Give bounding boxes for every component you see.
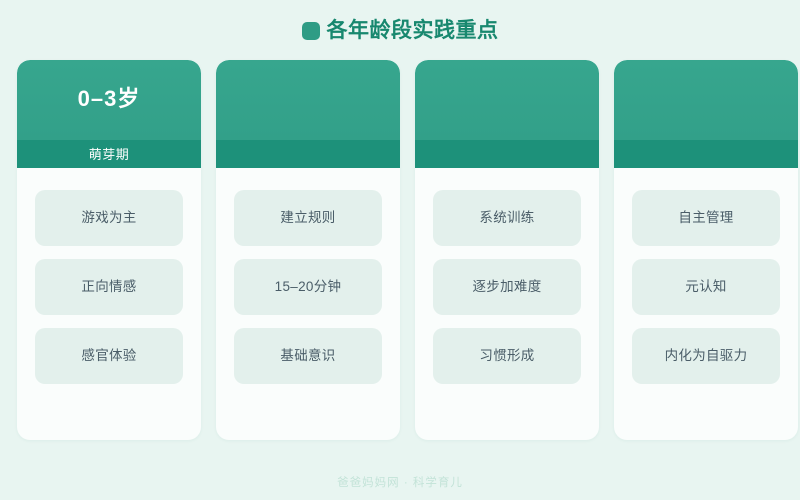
footer-credit-text: 爸爸妈妈网 · 科学育儿 — [337, 478, 463, 490]
practice-chip-label: 感官体验 — [81, 348, 136, 364]
practice-chip-label: 游戏为主 — [81, 210, 136, 226]
practice-chip[interactable]: 基础意识 — [234, 328, 382, 384]
practice-chip-label: 内化为自驱力 — [665, 348, 748, 364]
card-header — [415, 60, 599, 140]
page-title: 各年龄段实践重点 — [327, 20, 499, 41]
age-stage-card[interactable]: 建立规则 15–20分钟 基础意识 — [216, 60, 400, 440]
card-subheader — [614, 140, 798, 168]
card-body: 建立规则 15–20分钟 基础意识 — [216, 168, 400, 440]
practice-chip[interactable]: 系统训练 — [433, 190, 581, 246]
age-stage-card[interactable]: 0–3岁 萌芽期 游戏为主 正向情感 感官体验 — [17, 60, 201, 440]
card-subheader: 萌芽期 — [17, 140, 201, 168]
practice-chip[interactable]: 自主管理 — [632, 190, 780, 246]
card-body: 自主管理 元认知 内化为自驱力 — [614, 168, 798, 440]
practice-chip[interactable]: 15–20分钟 — [234, 259, 382, 315]
practice-chip[interactable]: 感官体验 — [35, 328, 183, 384]
card-body: 游戏为主 正向情感 感官体验 — [17, 168, 201, 440]
practice-chip-label: 15–20分钟 — [275, 279, 342, 295]
practice-chip[interactable]: 内化为自驱力 — [632, 328, 780, 384]
card-subheader — [415, 140, 599, 168]
practice-chip-label: 习惯形成 — [479, 348, 534, 364]
practice-chip-label: 基础意识 — [280, 348, 335, 364]
age-stage-card[interactable]: 系统训练 逐步加难度 习惯形成 — [415, 60, 599, 440]
card-header — [216, 60, 400, 140]
practice-chip-label: 建立规则 — [280, 210, 335, 226]
practice-chip-label: 逐步加难度 — [473, 279, 542, 295]
rounded-square-icon — [302, 22, 320, 40]
practice-chip[interactable]: 游戏为主 — [35, 190, 183, 246]
practice-chip[interactable]: 建立规则 — [234, 190, 382, 246]
card-body: 系统训练 逐步加难度 习惯形成 — [415, 168, 599, 440]
practice-chip-label: 自主管理 — [678, 210, 733, 226]
age-stage-card-row: 0–3岁 萌芽期 游戏为主 正向情感 感官体验 建立规则 — [17, 60, 797, 440]
card-subheader — [216, 140, 400, 168]
card-age-label: 0–3岁 — [78, 88, 141, 110]
practice-chip[interactable]: 逐步加难度 — [433, 259, 581, 315]
age-stage-card[interactable]: 自主管理 元认知 内化为自驱力 — [614, 60, 798, 440]
page-title-bar: 各年龄段实践重点 — [0, 0, 800, 60]
practice-chip[interactable]: 元认知 — [632, 259, 780, 315]
card-header — [614, 60, 798, 140]
practice-chip-label: 元认知 — [685, 279, 726, 295]
card-stage-label: 萌芽期 — [89, 148, 130, 161]
card-header: 0–3岁 — [17, 60, 201, 140]
practice-chip[interactable]: 正向情感 — [35, 259, 183, 315]
practice-chip-label: 正向情感 — [81, 279, 136, 295]
practice-chip-label: 系统训练 — [479, 210, 534, 226]
practice-chip[interactable]: 习惯形成 — [433, 328, 581, 384]
page-footer: 爸爸妈妈网 · 科学育儿 — [0, 468, 800, 500]
